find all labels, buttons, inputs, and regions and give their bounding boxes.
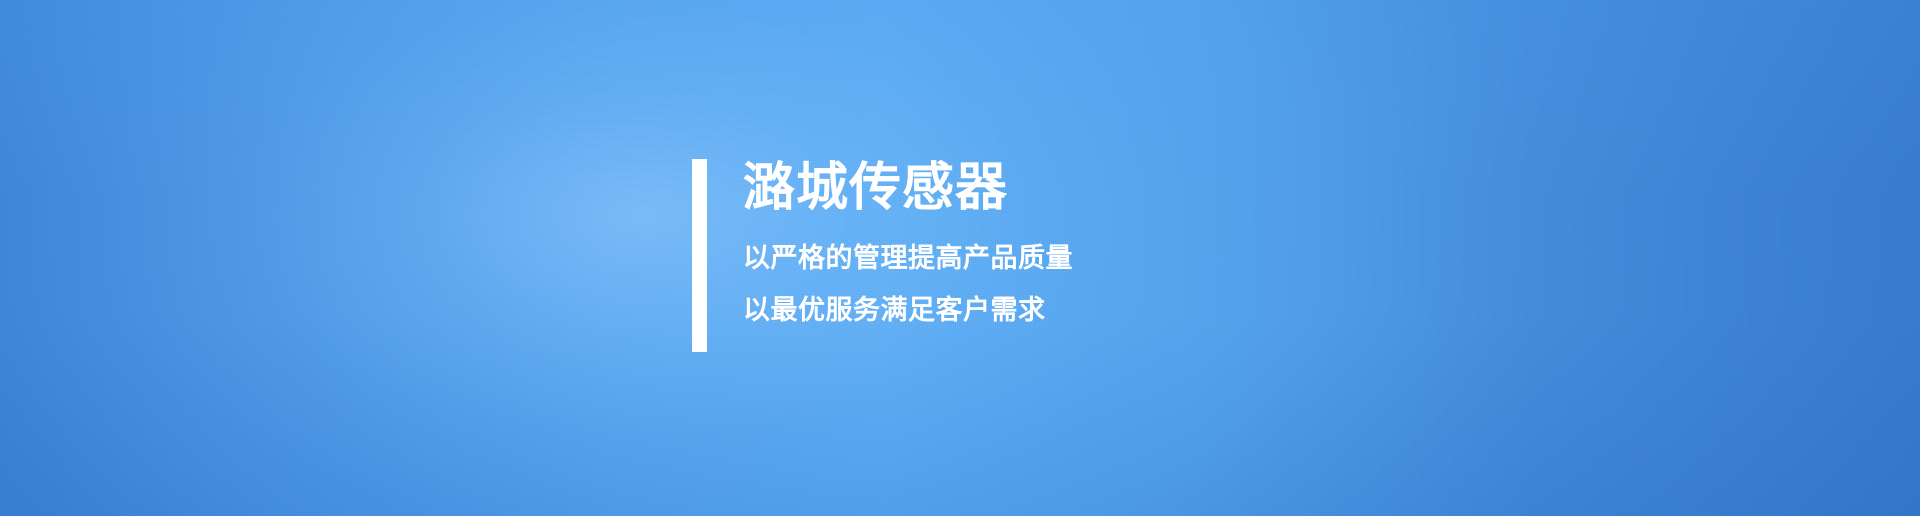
hero-subtitle-line-1: 以严格的管理提高产品质量 — [743, 242, 1073, 274]
accent-bar — [692, 159, 707, 352]
hero-text-block: 潞城传感器 以严格的管理提高产品质量 以最优服务满足客户需求 — [707, 159, 1073, 352]
hero-subtitle-line-2: 以最优服务满足客户需求 — [743, 294, 1073, 326]
hero-banner: 潞城传感器 以严格的管理提高产品质量 以最优服务满足客户需求 — [0, 0, 1920, 516]
page-title: 潞城传感器 — [743, 159, 1073, 216]
hero-content: 潞城传感器 以严格的管理提高产品质量 以最优服务满足客户需求 — [692, 159, 1073, 352]
